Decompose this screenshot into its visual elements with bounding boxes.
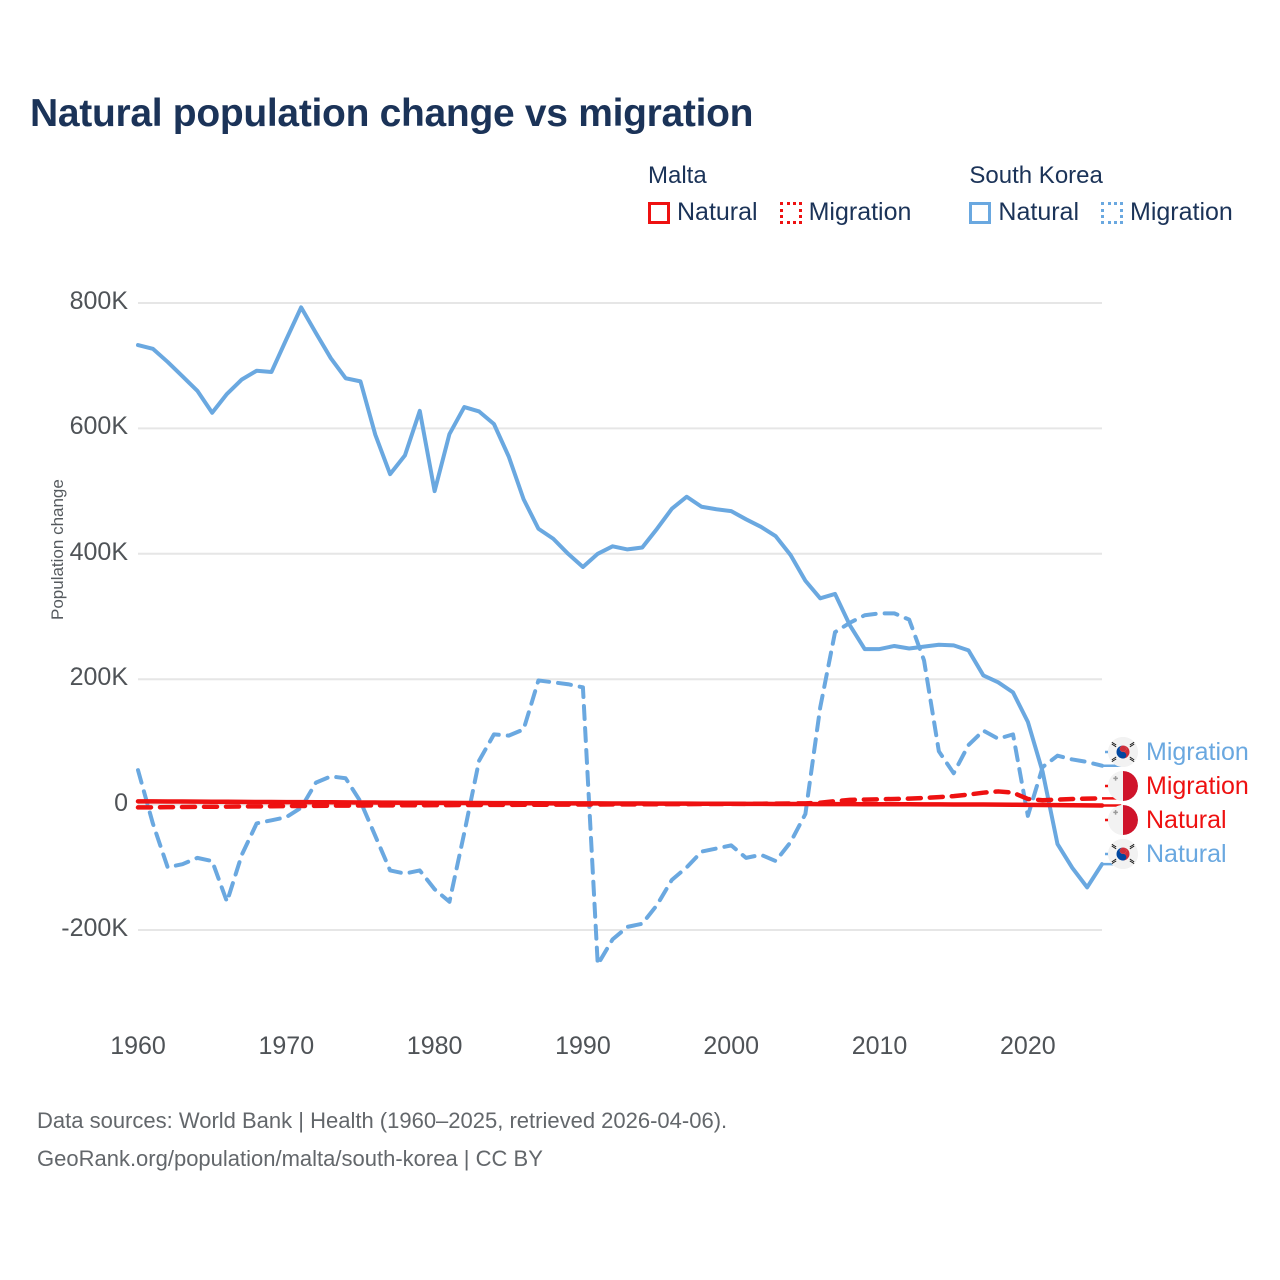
footer-attribution[interactable]: GeoRank.org/population/malta/south-korea…: [37, 1146, 543, 1172]
series-lines: [138, 307, 1102, 964]
x-tick-label: 1970: [236, 1032, 336, 1061]
gridlines: [138, 303, 1102, 930]
end-label-south-korea-migration[interactable]: Migration: [1108, 737, 1249, 767]
chart-container: Natural population change vs migration M…: [0, 0, 1280, 1280]
x-tick-label: 1990: [533, 1032, 633, 1061]
y-tick-label: -200K: [61, 914, 128, 943]
y-tick-label: 600K: [70, 412, 128, 441]
south-korea-flag-icon: [1108, 839, 1138, 869]
series-line-south-korea-migration: [138, 613, 1102, 964]
end-label-text: Natural: [1146, 840, 1227, 869]
end-label-text: Migration: [1146, 738, 1249, 767]
y-tick-label: 800K: [70, 287, 128, 316]
x-tick-label: 2000: [681, 1032, 781, 1061]
end-label-south-korea-natural[interactable]: Natural: [1108, 839, 1227, 869]
end-label-malta-natural[interactable]: Natural: [1108, 805, 1227, 835]
x-tick-label: 1980: [385, 1032, 485, 1061]
x-tick-label: 1960: [88, 1032, 188, 1061]
south-korea-flag-icon: [1108, 737, 1138, 767]
y-tick-label: 200K: [70, 663, 128, 692]
y-tick-label: 400K: [70, 538, 128, 567]
malta-flag-icon: [1108, 805, 1138, 835]
plot-area: [0, 0, 1280, 1280]
x-tick-label: 2020: [978, 1032, 1078, 1061]
end-label-text: Migration: [1146, 772, 1249, 801]
footer-data-sources: Data sources: World Bank | Health (1960–…: [37, 1108, 727, 1134]
end-label-malta-migration[interactable]: Migration: [1108, 771, 1249, 801]
malta-flag-icon: [1108, 771, 1138, 801]
y-tick-label: 0: [114, 789, 128, 818]
end-label-text: Natural: [1146, 806, 1227, 835]
x-tick-label: 2010: [830, 1032, 930, 1061]
